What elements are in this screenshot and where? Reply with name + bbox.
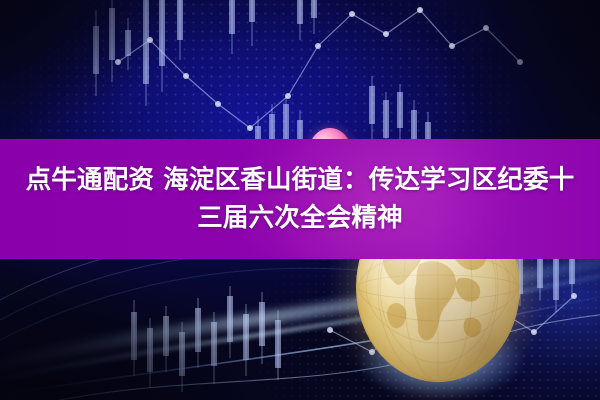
banner-title: 点牛通配资 海淀区香山街道：传达学习区纪委十 三届六次全会精神: [0, 139, 600, 259]
title-line-2: 三届六次全会精神: [197, 199, 403, 237]
title-line-1: 点牛通配资 海淀区香山街道：传达学习区纪委十: [26, 161, 575, 199]
banner-image: $ $ 点牛通配资 海淀区香山街道：传达学习区纪委十 三届六次全会精神: [0, 0, 600, 400]
